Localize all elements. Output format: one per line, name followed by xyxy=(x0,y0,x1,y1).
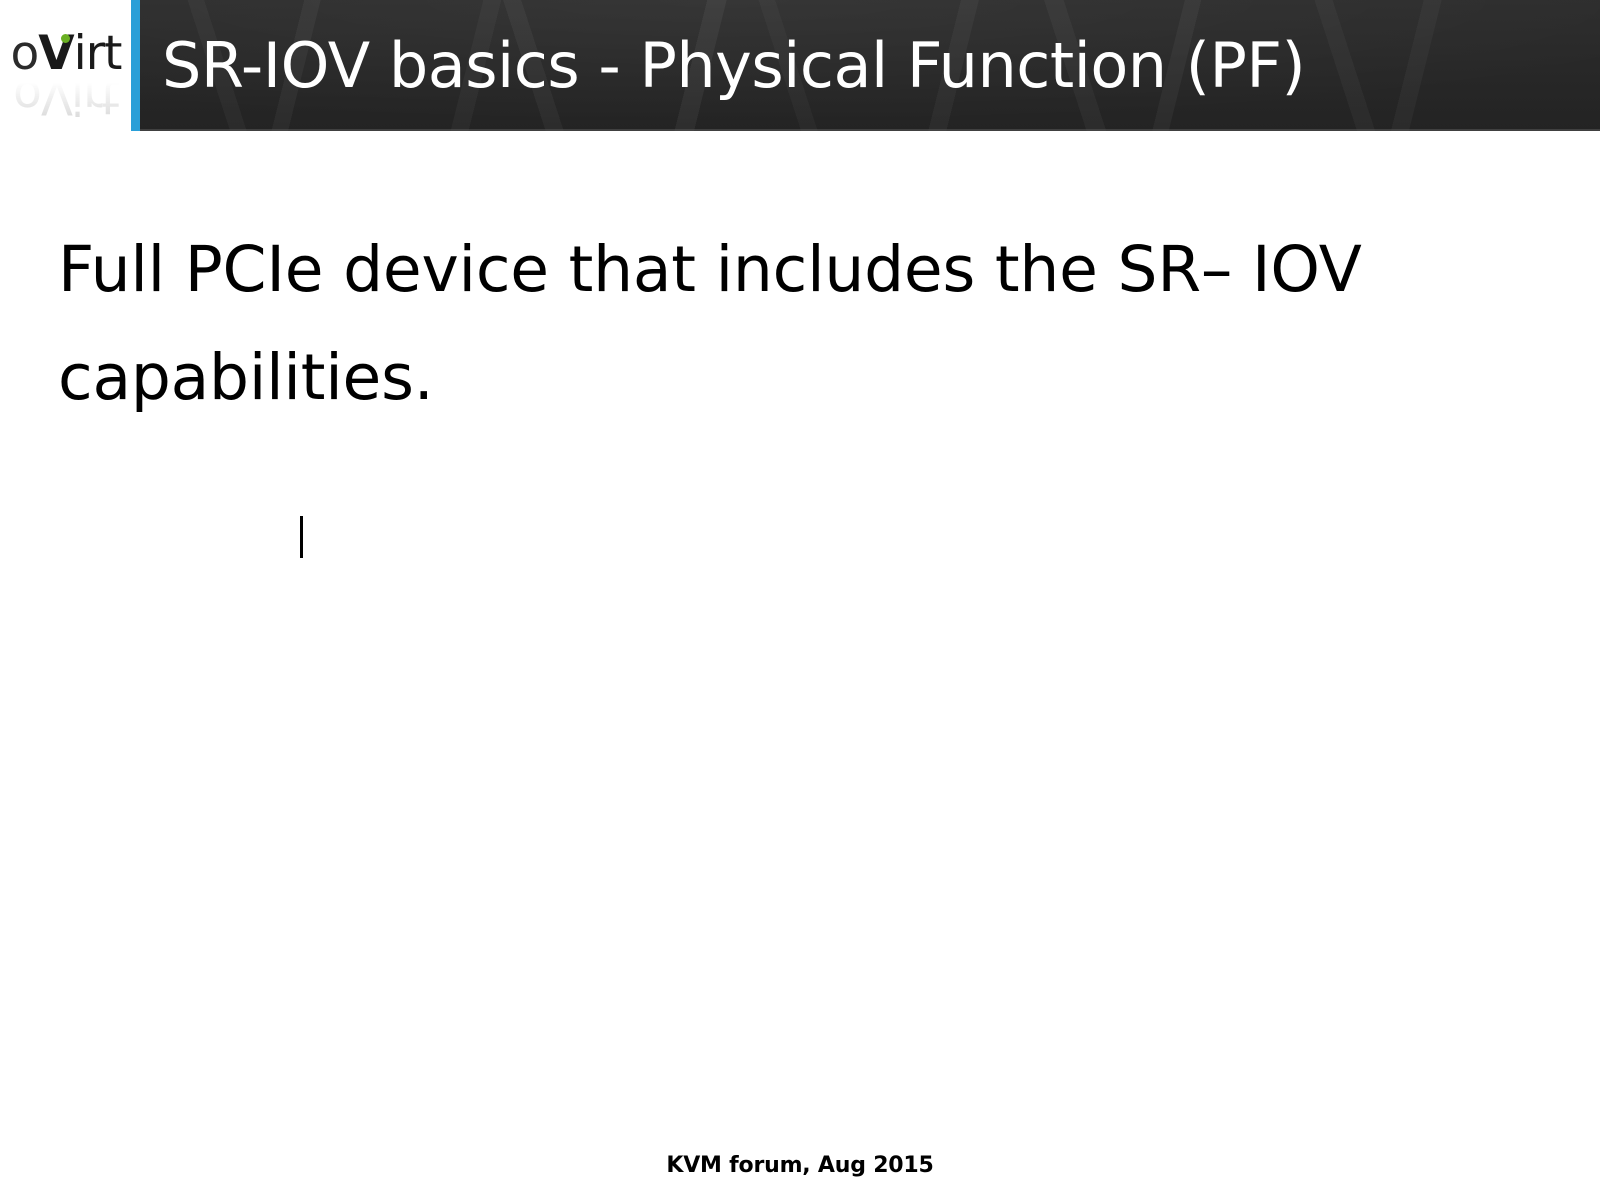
ovirt-logo-reflection: oVirt xyxy=(4,80,128,124)
slide-body-text[interactable]: Full PCIe device that includes the SR– I… xyxy=(58,216,1428,432)
logo-letters-irt: irt xyxy=(74,26,122,81)
footer-text: KVM forum, Aug 2015 xyxy=(666,1153,933,1179)
green-dot-icon xyxy=(61,34,70,43)
slide-header: oVirt oVirt SR-IOV basics - Physical Fun… xyxy=(0,0,1600,131)
text-cursor-caret xyxy=(300,516,303,558)
logo-area: oVirt oVirt xyxy=(0,0,131,131)
presentation-slide: oVirt oVirt SR-IOV basics - Physical Fun… xyxy=(0,0,1600,1201)
ovirt-logo[interactable]: oVirt oVirt xyxy=(4,26,128,126)
slide-title: SR-IOV basics - Physical Function (PF) xyxy=(162,30,1305,102)
slide-footer: KVM forum, Aug 2015 xyxy=(0,1153,1600,1179)
title-band: SR-IOV basics - Physical Function (PF) xyxy=(140,0,1600,131)
logo-letter-o: o xyxy=(11,26,39,81)
slide-body[interactable]: Full PCIe device that includes the SR– I… xyxy=(0,131,1600,1201)
accent-bar xyxy=(131,0,140,131)
